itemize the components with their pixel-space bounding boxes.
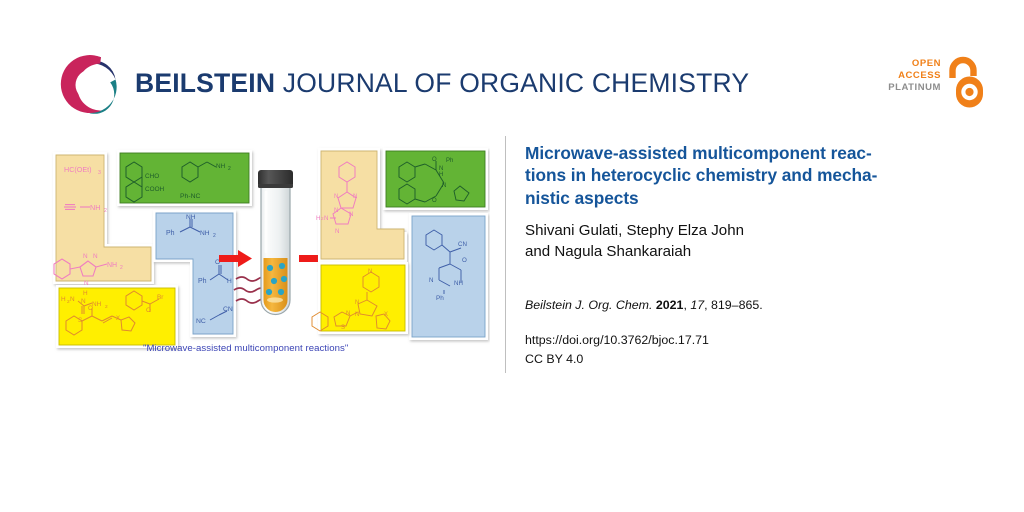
- svg-text:COOH: COOH: [145, 186, 165, 193]
- open-lock-icon: [944, 56, 986, 110]
- svg-text:N: N: [335, 228, 339, 235]
- open-access-line-open: OPEN: [888, 58, 941, 70]
- svg-text:2: 2: [228, 166, 231, 172]
- svg-text:NH: NH: [186, 214, 196, 221]
- svg-text:HC(OEt): HC(OEt): [64, 165, 92, 174]
- svg-text:H: H: [227, 278, 232, 285]
- svg-text:2: 2: [104, 208, 107, 214]
- svg-text:Br: Br: [157, 294, 164, 301]
- svg-text:S: S: [341, 325, 345, 331]
- svg-text:N: N: [368, 269, 372, 275]
- svg-text:O: O: [88, 305, 93, 312]
- svg-text:N: N: [349, 211, 353, 218]
- title-line-1: Microwave-assisted multicomponent reac-: [525, 143, 872, 163]
- journal-header: BEILSTEIN JOURNAL OF ORGANIC CHEMISTRY O…: [0, 0, 1024, 130]
- svg-text:CN: CN: [223, 306, 233, 313]
- article-license[interactable]: CC BY 4.0: [525, 352, 583, 366]
- svg-text:Ph: Ph: [166, 230, 175, 237]
- svg-text:H: H: [439, 172, 443, 178]
- open-access-badge[interactable]: OPEN ACCESS PLATINUM: [874, 56, 986, 112]
- svg-text:N: N: [83, 253, 88, 260]
- article-metadata: Microwave-assisted multicomponent reac-t…: [525, 142, 985, 369]
- svg-text:N: N: [324, 215, 328, 222]
- svg-text:H: H: [61, 296, 66, 303]
- svg-text:2: 2: [213, 233, 216, 239]
- svg-text:N: N: [334, 193, 338, 200]
- svg-text:X: X: [384, 312, 388, 318]
- journal-title-bold: BEILSTEIN: [135, 68, 275, 98]
- column-divider: [505, 136, 506, 373]
- svg-text:N: N: [429, 277, 433, 284]
- authors-line-2: and Nagula Shankaraiah: [525, 243, 691, 260]
- blue-product-block: [409, 213, 488, 340]
- article-title: Microwave-assisted multicomponent reac-t…: [525, 142, 985, 209]
- article-authors: Shivani Gulati, Stephy Elza Johnand Nagu…: [525, 221, 985, 263]
- article-citation: Beilstein J. Org. Chem. 2021, 17, 819–86…: [525, 296, 985, 315]
- test-tube: [258, 170, 293, 314]
- svg-text:Ph: Ph: [436, 295, 444, 302]
- svg-text:N: N: [355, 300, 359, 306]
- title-line-3: nistic aspects: [525, 188, 639, 208]
- svg-text:NH: NH: [92, 301, 102, 308]
- svg-text:Ph-NC: Ph-NC: [180, 193, 200, 200]
- open-access-wordmark: OPEN ACCESS PLATINUM: [888, 58, 941, 94]
- citation-year: 2021: [656, 298, 684, 312]
- svg-text:O: O: [432, 198, 437, 204]
- svg-text:N: N: [353, 193, 357, 200]
- reactant-blocks: HC(OEt) 3 NH 2 NH 2: [53, 150, 252, 348]
- svg-text:H: H: [316, 215, 320, 222]
- journal-title-wordmark: BEILSTEIN JOURNAL OF ORGANIC CHEMISTRY: [135, 68, 749, 99]
- svg-text:O: O: [432, 157, 437, 163]
- citation-journal: Beilstein J. Org. Chem.: [525, 298, 652, 312]
- svg-text:N: N: [70, 296, 75, 303]
- svg-text:NH: NH: [200, 230, 210, 237]
- svg-text:N: N: [442, 183, 446, 189]
- citation-volume: 17: [690, 298, 704, 312]
- svg-text:2: 2: [105, 304, 108, 310]
- svg-text:NH: NH: [454, 280, 463, 287]
- svg-text:3: 3: [98, 170, 101, 176]
- svg-text:H: H: [83, 290, 88, 297]
- open-access-line-platinum: PLATINUM: [888, 82, 941, 94]
- svg-text:2: 2: [120, 265, 123, 271]
- open-access-line-access: ACCESS: [888, 70, 941, 82]
- svg-text:X: X: [116, 316, 120, 322]
- title-line-2: tions in heterocyclic chemistry and mech…: [525, 165, 877, 185]
- svg-text:CN: CN: [458, 241, 467, 248]
- citation-pages: , 819–865.: [704, 298, 763, 312]
- svg-text:O: O: [146, 307, 151, 314]
- beilstein-rings-logo-icon[interactable]: [57, 52, 125, 118]
- article-doi[interactable]: https://doi.org/10.3762/bjoc.17.71: [525, 333, 709, 347]
- svg-text:NH: NH: [90, 203, 100, 212]
- abstract-caption: "Microwave-assisted multicomponent react…: [143, 343, 443, 354]
- journal-title-rest: JOURNAL OF ORGANIC CHEMISTRY: [275, 68, 749, 98]
- svg-text:N: N: [334, 207, 338, 214]
- svg-text:N: N: [346, 311, 350, 317]
- svg-text:NH: NH: [216, 163, 226, 170]
- graphical-abstract: HC(OEt) 3 NH 2 NH 2: [50, 140, 490, 372]
- svg-text:CHO: CHO: [145, 173, 159, 180]
- svg-text:O: O: [462, 257, 467, 264]
- svg-text:Ph: Ph: [198, 278, 207, 285]
- svg-text:Ph: Ph: [446, 158, 453, 164]
- article-links: https://doi.org/10.3762/bjoc.17.71CC BY …: [525, 331, 985, 369]
- article-cover-page: BEILSTEIN JOURNAL OF ORGANIC CHEMISTRY O…: [0, 0, 1024, 512]
- authors-line-1: Shivani Gulati, Stephy Elza John: [525, 222, 744, 239]
- svg-text:N: N: [93, 253, 98, 260]
- product-blocks: N N N N N H 2 N: [312, 148, 488, 340]
- svg-text:NC: NC: [196, 318, 206, 325]
- yellow-product-block: [318, 262, 408, 334]
- svg-text:NH: NH: [107, 262, 117, 269]
